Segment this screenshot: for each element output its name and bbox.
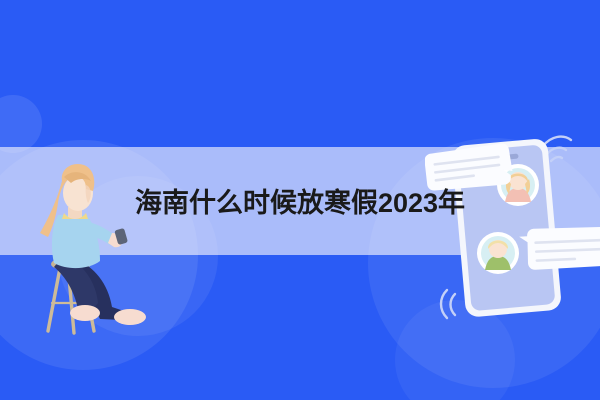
shoe-near [70, 305, 100, 321]
signal-arcs-bottom [441, 290, 455, 318]
shoe-far [114, 309, 146, 325]
phone-chat-illustration [425, 122, 600, 337]
bubble-right [519, 223, 600, 271]
bubble-right-shape [519, 223, 600, 271]
avatar-bottom [477, 232, 519, 274]
blouse [52, 215, 100, 268]
bubble-left [425, 143, 513, 191]
page-title: 海南什么时候放寒假2023年 [0, 185, 600, 221]
banner-image: 海南什么时候放寒假2023年 [0, 0, 600, 400]
bubble-left-shape [425, 143, 513, 191]
